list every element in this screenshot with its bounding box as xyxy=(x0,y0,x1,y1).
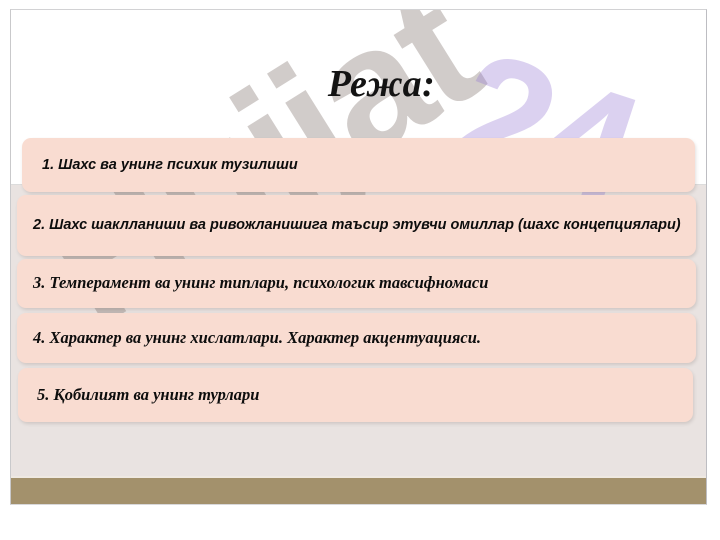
plan-item-4-label: 4. Характер ва унинг хислатлари. Характе… xyxy=(17,327,696,349)
plan-item-4[interactable]: 4. Характер ва унинг хислатлари. Характе… xyxy=(17,313,696,363)
plan-item-2[interactable]: 2. Шахс шаклланиши ва ривожланишига таъс… xyxy=(17,195,696,256)
plan-item-2-label: 2. Шахс шаклланиши ва ривожланишига таъс… xyxy=(17,215,696,236)
slide-frame: Hujjat 24 Режа: 1. Шахс ва унинг психик … xyxy=(10,9,707,505)
plan-item-1-label: 1. Шахс ва унинг психик тузилиши xyxy=(22,155,695,176)
plan-item-3[interactable]: 3. Темперамент ва унинг типлари, психоло… xyxy=(17,259,696,308)
plan-item-1[interactable]: 1. Шахс ва унинг психик тузилиши xyxy=(22,138,695,192)
footer-band xyxy=(11,476,706,504)
plan-item-3-label: 3. Темперамент ва унинг типлари, психоло… xyxy=(17,272,696,294)
page-title: Режа: xyxy=(11,62,706,106)
slide-screenshot: Hujjat 24 Режа: 1. Шахс ва унинг психик … xyxy=(0,0,720,540)
plan-item-5[interactable]: 5. Қобилият ва унинг турлари xyxy=(18,368,693,422)
plan-item-5-label: 5. Қобилият ва унинг турлари xyxy=(18,384,693,406)
